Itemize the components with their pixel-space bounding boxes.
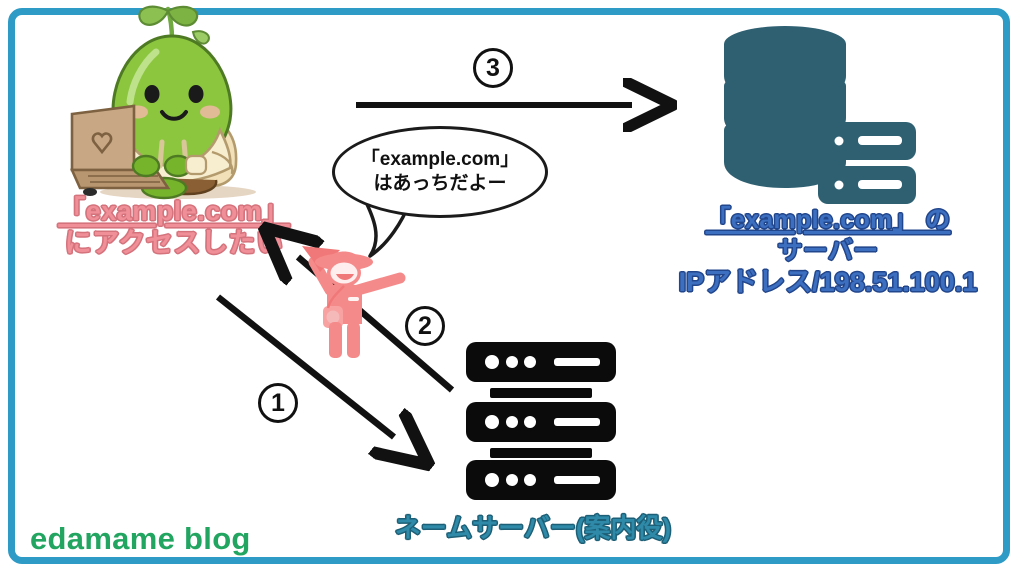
speech-bubble-line1: 「example.com」 (361, 148, 519, 172)
server-rack-icon (458, 336, 624, 502)
edamame-mascot-icon (60, 2, 290, 207)
database-server-icon (706, 18, 928, 208)
step-number-1: 1 (258, 383, 298, 423)
step-number-2: 2 (405, 306, 445, 346)
speech-bubble-line2: はあっちだよー (373, 172, 506, 196)
step-number-3: 3 (473, 48, 513, 88)
speech-bubble: 「example.com」 はあっちだよー (332, 126, 548, 218)
guide-person-icon (296, 228, 412, 360)
diagram-canvas: 「example.com」 にアクセスしたい 「example.com」 はあっ… (0, 0, 1024, 576)
